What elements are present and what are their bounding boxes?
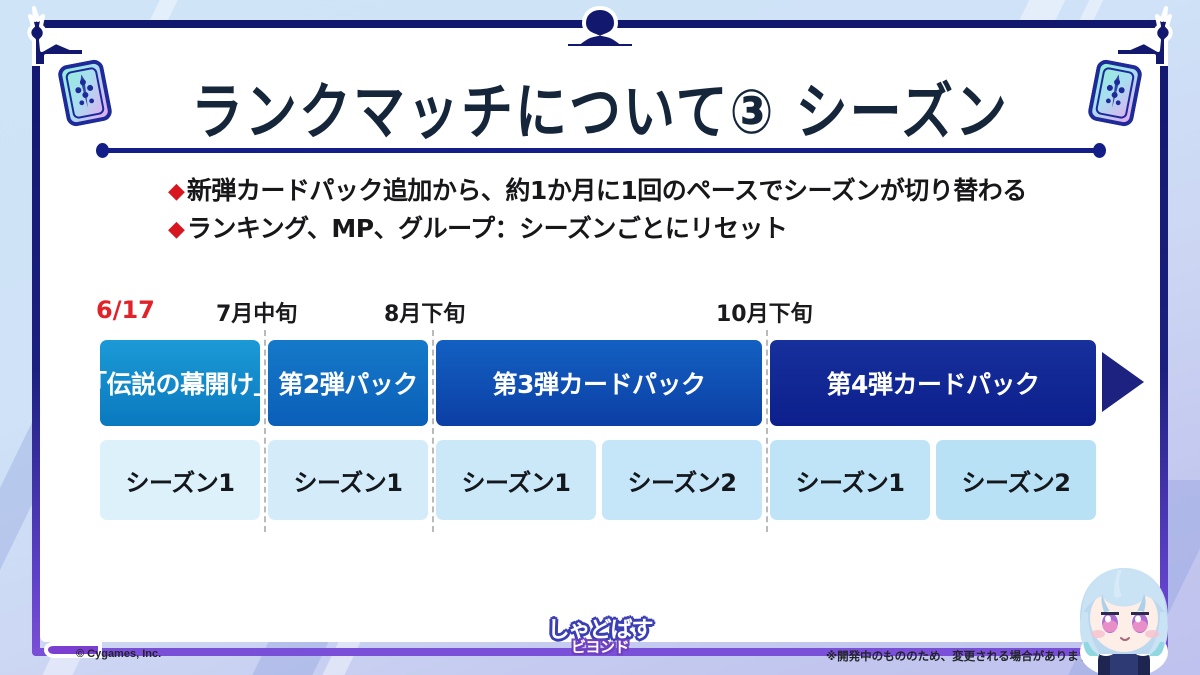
title-underline-dot-left: [96, 143, 109, 158]
finial-ornament-icon: [566, 4, 634, 48]
timeline-date-label: 6/17: [96, 296, 155, 324]
chibi-character-icon: [1058, 556, 1188, 675]
card-pack-box: 第3弾カードパック: [436, 340, 762, 426]
triangle-right-icon: [1102, 352, 1144, 412]
diamond-bullet-icon: ◆: [168, 174, 185, 208]
season-timeline: 6/177月中旬8月下旬10月下旬「伝説の幕開け」第2弾パック第3弾カードパック…: [96, 296, 1106, 536]
page-title: ランクマッチについて③ シーズン: [0, 62, 1200, 151]
card-pack-box: 「伝説の幕開け」: [100, 340, 260, 426]
season-box: シーズン1: [268, 440, 428, 520]
slide-canvas: ランクマッチについて③ シーズン ◆ 新弾カードパック追加から、約1か月に1回の…: [0, 0, 1200, 675]
card-pack-box: 第4弾カードパック: [770, 340, 1096, 426]
bullet-item: ◆ 新弾カードパック追加から、約1か月に1回のペースでシーズンが切り替わる: [168, 174, 1027, 208]
bullet-list: ◆ 新弾カードパック追加から、約1か月に1回のペースでシーズンが切り替わる ◆ …: [168, 174, 1027, 250]
bullet-text: 新弾カードパック追加から、約1か月に1回のペースでシーズンが切り替わる: [187, 174, 1027, 208]
season-box: シーズン1: [100, 440, 260, 520]
title-underline-dot-right: [1093, 143, 1106, 158]
diamond-bullet-icon: ◆: [168, 212, 185, 246]
game-logo: しゃどばす ビヨンド: [532, 604, 668, 666]
timeline-divider: [766, 330, 768, 532]
card-pack-box: 第2弾パック: [268, 340, 428, 426]
season-box: シーズン1: [770, 440, 930, 520]
corner-finial-left-icon: [12, 6, 84, 66]
timeline-divider: [432, 330, 434, 532]
bullet-text: ランキング、MP、グループ：シーズンごとにリセット: [187, 212, 787, 246]
logo-subtitle-text: ビヨンド: [532, 636, 668, 657]
timeline-date-label: 10月下旬: [716, 296, 813, 328]
bullet-item: ◆ ランキング、MP、グループ：シーズンごとにリセット: [168, 212, 1027, 246]
season-box: シーズン2: [602, 440, 762, 520]
season-box: シーズン2: [936, 440, 1096, 520]
timeline-date-label: 8月下旬: [384, 296, 465, 328]
copyright-text: © Cygames, Inc.: [76, 648, 161, 660]
timeline-divider: [264, 330, 266, 532]
corner-finial-right-icon: [1116, 6, 1188, 66]
season-box: シーズン1: [436, 440, 596, 520]
title-underline: [100, 148, 1100, 153]
timeline-date-label: 7月中旬: [216, 296, 297, 328]
